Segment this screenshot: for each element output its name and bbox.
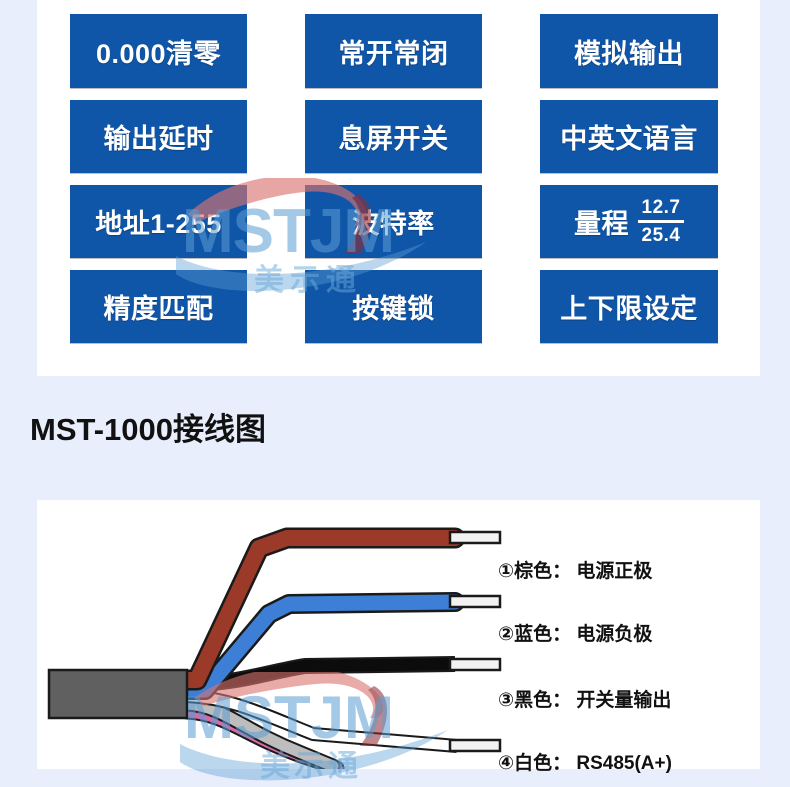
feature-label: 中英文语言 [560,117,698,156]
fraction-bar [638,220,684,223]
feature-label: 模拟输出 [574,32,684,71]
feature-cell-accuracy-match[interactable]: 精度匹配 [70,270,247,343]
feature-cell-cn-en-language[interactable]: 中英文语言 [540,100,718,173]
feature-cell-limit-setting[interactable]: 上下限设定 [540,270,718,343]
feature-cell-screen-off-switch[interactable]: 息屏开关 [305,100,482,173]
feature-label: 按键锁 [352,287,435,326]
feature-cell-baud-rate[interactable]: 波特率 [305,185,482,258]
feature-label: 波特率 [352,202,435,241]
feature-cell-analog-output[interactable]: 模拟输出 [540,14,718,88]
feature-label: 常开常闭 [339,32,449,71]
feature-cell-measuring-range[interactable]: 量程 12.7 25.4 [540,185,718,258]
feature-cell-zero-reset[interactable]: 0.000清零 [70,14,247,88]
feature-cell-key-lock[interactable]: 按键锁 [305,270,482,343]
wiring-diagram [37,500,507,769]
feature-label: 精度匹配 [104,287,214,326]
feature-cell-address-1-255[interactable]: 地址1-255 [70,185,247,258]
feature-cell-no-nc[interactable]: 常开常闭 [305,14,482,88]
page-title: MST-1000接线图 [30,404,266,449]
range-fraction: 12.7 25.4 [638,197,684,247]
legend-item-brown: ①棕色： 电源正极 [498,556,652,583]
feature-label: 量程 [574,202,629,241]
fraction-numerator: 12.7 [642,197,681,218]
fraction-denominator: 25.4 [642,225,681,246]
legend-item-blue: ②蓝色： 电源负极 [498,619,652,646]
feature-grid: 0.000清零 常开常闭 模拟输出 输出延时 息屏开关 中英文语言 地址1-25… [70,14,718,343]
wiring-legend: ①棕色： 电源正极 ②蓝色： 电源负极 ③黑色： 开关量输出 ④白色： RS48… [498,500,758,769]
legend-item-black: ③黑色： 开关量输出 [498,685,671,712]
feature-label: 地址1-255 [95,202,222,241]
feature-label: 息屏开关 [339,117,449,156]
feature-label: 0.000清零 [96,32,221,71]
feature-cell-output-delay[interactable]: 输出延时 [70,100,247,173]
feature-label: 上下限设定 [560,287,698,326]
feature-label: 输出延时 [104,117,214,156]
legend-item-white: ④白色： RS485(A+) [498,748,672,775]
